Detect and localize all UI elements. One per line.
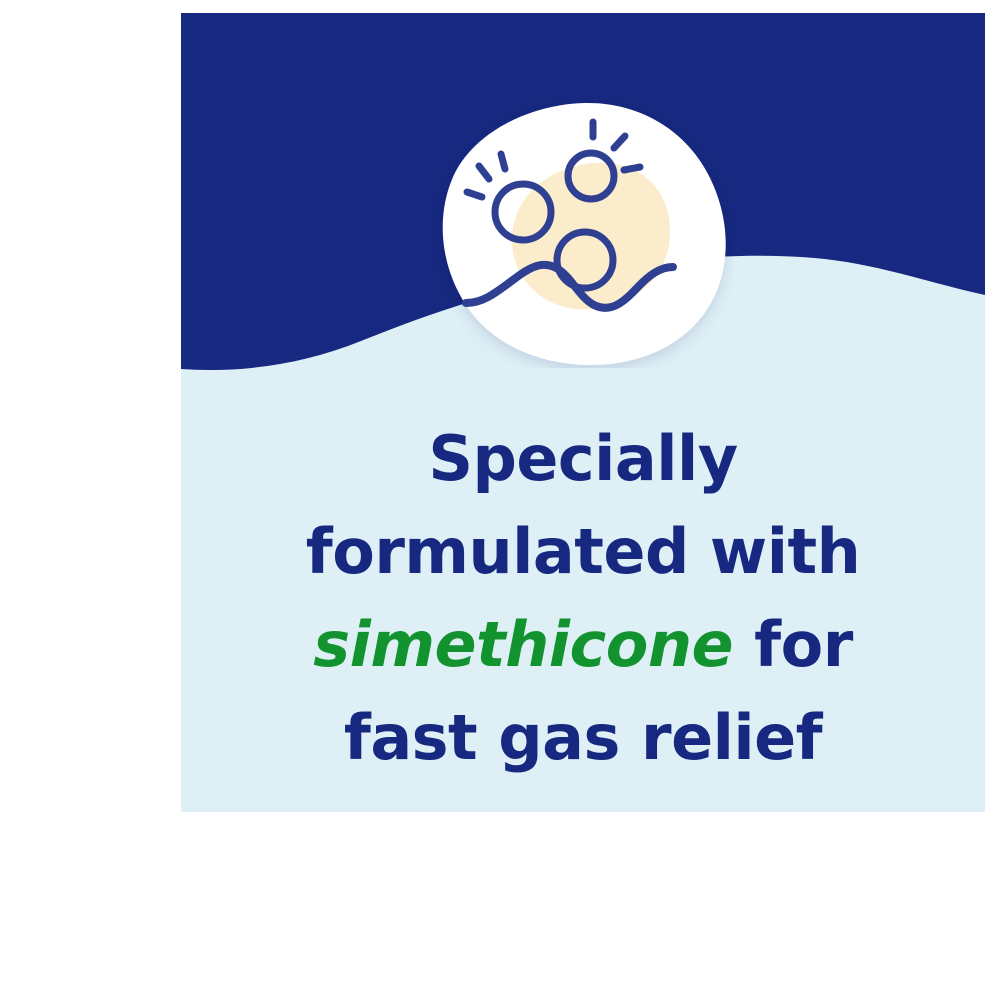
simethicone-benefit-card: Specially formulated with simethicone fo… bbox=[181, 13, 985, 812]
screenshot-root: Specially formulated with simethicone fo… bbox=[0, 0, 1000, 1000]
gas-bubbles-icon bbox=[433, 100, 733, 368]
gas-bubbles-medallion bbox=[433, 100, 733, 368]
headline-line-3-tail: for bbox=[733, 608, 853, 681]
headline-ingredient-highlight: simethicone bbox=[313, 608, 733, 681]
headline-line-2-text: formulated with bbox=[306, 515, 860, 588]
headline-line-1: Specially bbox=[181, 421, 985, 514]
headline-line-1-text: Specially bbox=[428, 422, 737, 495]
headline-line-4: fast gas relief bbox=[181, 700, 985, 793]
headline-line-4-text: fast gas relief bbox=[344, 701, 822, 774]
headline-line-3: simethicone for bbox=[181, 607, 985, 700]
headline-block: Specially formulated with simethicone fo… bbox=[181, 421, 985, 793]
headline-line-2: formulated with bbox=[181, 514, 985, 607]
